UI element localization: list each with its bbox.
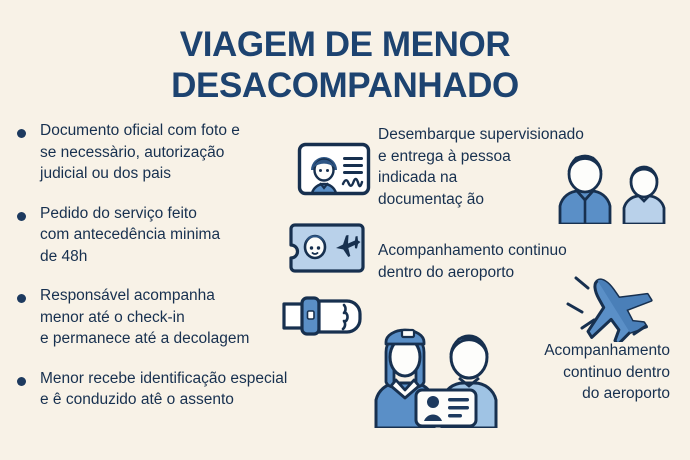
airplane-takeoff-icon <box>562 272 666 342</box>
boarding-pass-icon <box>288 222 366 274</box>
bullet-text: Documento oficial com foto e se necessàr… <box>40 122 240 182</box>
requirements-bullet-list: Documento oficial com foto e se necessàr… <box>12 120 322 429</box>
title-line-1: VIAGEM DE MENOR <box>0 24 690 65</box>
list-item: Pedido do serviço feito com antecedência… <box>12 203 322 268</box>
page-title: VIAGEM DE MENOR DESACOMPANHADO <box>0 24 690 106</box>
list-item: Menor recebe identificação especial e ê … <box>12 368 322 411</box>
wristband-icon <box>282 292 374 340</box>
id-card-icon <box>297 142 371 196</box>
adult-and-child-icon <box>552 152 676 224</box>
list-item: Responsável acompanha menor até o check-… <box>12 285 322 350</box>
airport-escort-text: Acompanhamento continuo dentro do aeropo… <box>490 340 670 405</box>
bullet-text: Pedido do serviço feito com antecedência… <box>40 205 220 265</box>
title-line-2: DESACOMPANHADO <box>0 65 690 106</box>
crew-and-child-icon <box>372 312 508 428</box>
infographic-page: VIAGEM DE MENOR DESACOMPANHADO Documento… <box>0 0 690 460</box>
bullet-text: Menor recebe identificação especial e ê … <box>40 370 287 409</box>
bullet-dot-icon <box>17 294 26 303</box>
bullet-dot-icon <box>17 129 26 138</box>
bullet-dot-icon <box>17 377 26 386</box>
bullet-text: Responsável acompanha menor até o check-… <box>40 287 249 347</box>
bullet-dot-icon <box>17 212 26 221</box>
list-item: Documento oficial com foto e se necessàr… <box>12 120 322 185</box>
